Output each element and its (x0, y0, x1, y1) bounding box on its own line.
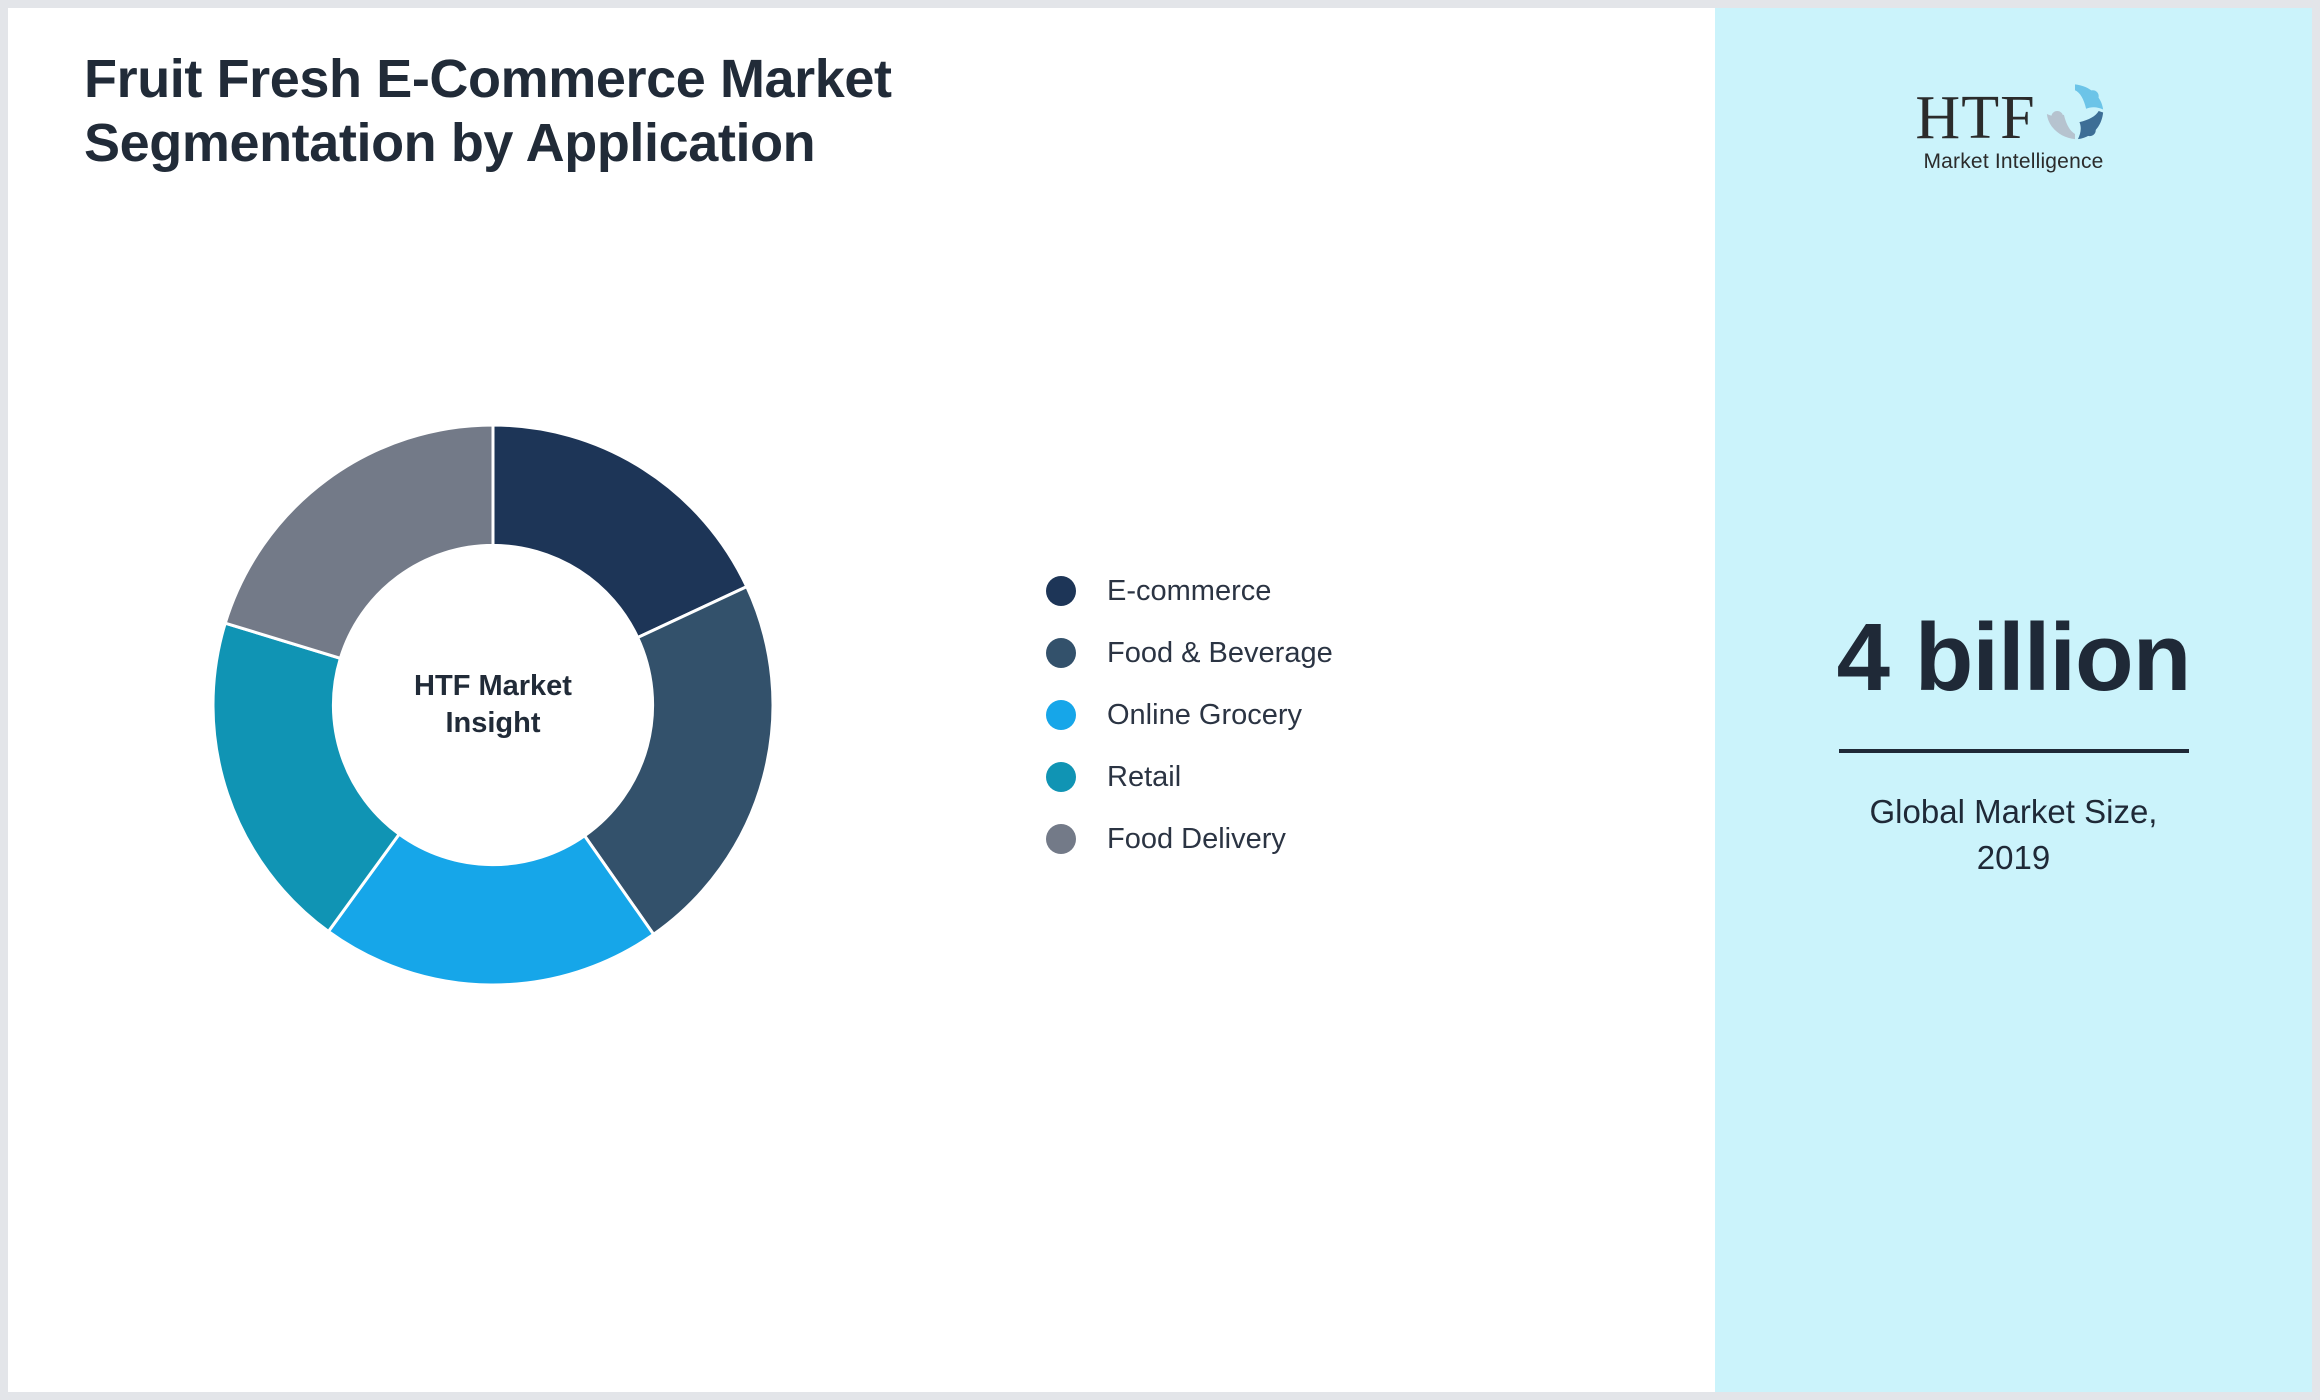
legend-swatch-icon (1046, 762, 1076, 792)
legend-item-label: Food & Beverage (1107, 637, 1333, 670)
legend-item[interactable]: Retail (1046, 746, 1333, 808)
stat-panel: HTF Market Intelligence 4 billion Global… (1715, 8, 2312, 1392)
chart-legend: E-commerceFood & BeverageOnline GroceryR… (1046, 560, 1333, 870)
title-block: Fruit Fresh E-Commerce Market Segmentati… (84, 48, 1084, 175)
logo-mark-row: HTF (1909, 70, 2119, 148)
legend-item[interactable]: Food & Beverage (1046, 622, 1333, 684)
infographic-canvas: Fruit Fresh E-Commerce Market Segmentati… (8, 8, 2312, 1392)
stat-caption: Global Market Size, 2019 (1754, 789, 2274, 881)
page-title: Fruit Fresh E-Commerce Market Segmentati… (84, 48, 1084, 175)
legend-item-label: E-commerce (1107, 575, 1271, 608)
legend-item[interactable]: Online Grocery (1046, 684, 1333, 746)
logo-wordmark: HTF (1915, 89, 2035, 148)
donut-chart-svg (213, 425, 773, 985)
stat-value: 4 billion (1754, 608, 2274, 709)
logo-subtitle: Market Intelligence (1909, 150, 2119, 174)
legend-item[interactable]: Food Delivery (1046, 808, 1333, 870)
legend-swatch-icon (1046, 638, 1076, 668)
brand-logo: HTF Market Intelligence (1909, 70, 2119, 174)
chart-panel: Fruit Fresh E-Commerce Market Segmentati… (8, 8, 1715, 1392)
legend-swatch-icon (1046, 824, 1076, 854)
donut-slice-group (213, 425, 773, 985)
stat-divider (1839, 749, 2189, 753)
donut-slice[interactable] (225, 425, 493, 658)
legend-item-label: Food Delivery (1107, 823, 1286, 856)
legend-item-label: Online Grocery (1107, 699, 1302, 732)
legend-swatch-icon (1046, 576, 1076, 606)
legend-swatch-icon (1046, 700, 1076, 730)
legend-item[interactable]: E-commerce (1046, 560, 1333, 622)
stat-block: 4 billion Global Market Size, 2019 (1754, 608, 2274, 881)
legend-item-label: Retail (1107, 761, 1181, 794)
htf-people-emblem-icon (2038, 74, 2112, 148)
donut-chart: HTF Market Insight (213, 425, 773, 985)
